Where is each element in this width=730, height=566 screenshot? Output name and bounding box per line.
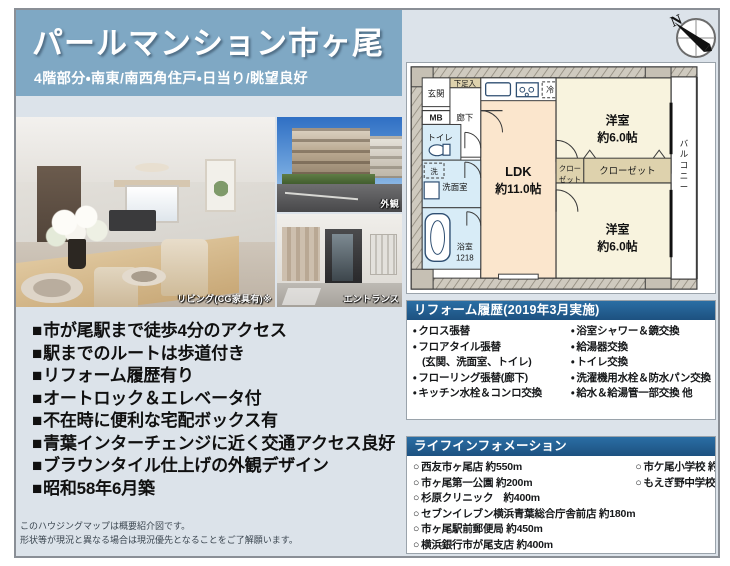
- housing-map-flyer: パールマンション市ヶ尾 4階部分・南東/南西角住戸・日当り/眺望良好 N リビン…: [0, 0, 730, 566]
- life-marker: ○: [413, 523, 419, 535]
- life-item: ○市ケ尾小学校 約550m: [635, 460, 716, 476]
- reform-item: ・キッチン水栓＆コンロ交換: [413, 386, 571, 402]
- floor-plan: バ ル コ ニ ー LDK 約11.0帖 冷 玄関 下足入: [406, 62, 716, 294]
- life-item: ○西友市ヶ尾店 約550m: [413, 460, 635, 476]
- reform-label: 洗濯機用水栓＆防水パン交換: [576, 372, 710, 384]
- reform-marker: ・: [571, 356, 574, 368]
- bathroom-size-label: 1218: [456, 253, 474, 262]
- reform-item: ・給水＆給湯管一部交換 他: [571, 386, 711, 402]
- svg-text:コ: コ: [680, 160, 688, 170]
- feature-item: ■リフォーム履歴有り: [16, 365, 402, 388]
- life-information-panel: ライフインフォメーション ○西友市ヶ尾店 約550m ○市ヶ尾第一公園 約200…: [406, 436, 716, 554]
- washbasin-label: 洗面室: [442, 182, 467, 192]
- feature-item: ■不在時に便利な宅配ボックス有: [16, 410, 402, 433]
- reform-label: (玄関、洗面室、トイレ): [422, 356, 532, 368]
- reform-item: ・クロス張替: [413, 324, 571, 340]
- feature-marker: ■: [32, 479, 42, 498]
- feature-marker: ■: [32, 456, 42, 475]
- bedroom-north-label: 洋室: [606, 113, 630, 127]
- life-label: 横浜銀行市が尾支店 約400m: [421, 539, 553, 551]
- reform-label: 給水＆給湯管一部交換 他: [576, 387, 692, 399]
- life-label: 杉原クリニック 約400m: [421, 492, 540, 504]
- exterior-photo: 外観: [277, 117, 402, 212]
- feature-marker: ■: [32, 434, 42, 453]
- feature-label: 不在時に便利な宅配ボックス有: [43, 411, 278, 430]
- life-item: ○市ヶ尾駅前郵便局 約450m: [413, 522, 635, 538]
- feature-item: ■ブラウンタイル仕上げの外観デザイン: [16, 455, 402, 478]
- feature-list: ■市が尾駅まで徒歩4分のアクセス ■駅までのルートは歩道付き ■リフォーム履歴有…: [16, 320, 402, 510]
- feature-label: 市が尾駅まで徒歩4分のアクセス: [43, 321, 287, 340]
- life-label: セブンイレブン横浜青葉総合庁舎前店 約180m: [421, 508, 635, 520]
- life-right-column: ○市ケ尾小学校 約550m ○もえぎ野中学校 約1,800m: [635, 460, 716, 553]
- living-room-photo: リビング(CG家具有)※: [16, 117, 275, 307]
- entrance-photo: エントランス: [277, 214, 402, 307]
- disclaimer-line-1: このハウジングマップは概要紹介図です。: [20, 519, 400, 533]
- reform-marker: ・: [571, 372, 574, 384]
- reform-item: ・トイレ交換: [571, 355, 711, 371]
- header-banner: パールマンション市ヶ尾 4階部分・南東/南西角住戸・日当り/眺望良好: [16, 10, 402, 96]
- feature-label: 昭和58年6月築: [43, 479, 155, 498]
- reform-item: ・洗濯機用水栓＆防水パン交換: [571, 371, 711, 387]
- feature-marker: ■: [32, 321, 42, 340]
- reform-item: ・給湯器交換: [571, 340, 711, 356]
- life-marker: ○: [635, 477, 641, 489]
- disclaimer-line-2: 形状等が現況と異なる場合は現況優先となることをご了解願います。: [20, 533, 400, 547]
- reform-label: フローリング張替(廊下): [418, 372, 528, 384]
- ldk-size-label: 約11.0帖: [494, 182, 541, 196]
- reform-marker: ・: [571, 325, 574, 337]
- reform-label: 浴室シャワー＆鏡交換: [576, 325, 679, 337]
- reform-item: ・フローリング張替(廊下): [413, 371, 571, 387]
- reform-history-panel: リフォーム履歴(2019年3月実施) ・クロス張替 ・フロアタイル張替 (玄関、…: [406, 300, 716, 420]
- life-item: ○セブンイレブン横浜青葉総合庁舎前店 約180m: [413, 507, 635, 523]
- svg-text:ー: ー: [680, 182, 688, 192]
- reform-label: キッチン水栓＆コンロ交換: [418, 387, 542, 399]
- entrance-caption: エントランス: [343, 292, 399, 305]
- reform-marker: ・: [413, 325, 416, 337]
- reform-marker: ・: [413, 372, 416, 384]
- feature-marker: ■: [32, 389, 42, 408]
- life-label: 市ケ尾小学校 約550m: [643, 461, 716, 473]
- life-marker: ○: [413, 461, 419, 473]
- reform-label: クロス張替: [418, 325, 470, 337]
- entrance-label: 玄関: [428, 89, 445, 99]
- bathroom-label: 浴室: [457, 241, 473, 251]
- reform-label: 給湯器交換: [576, 341, 628, 353]
- refrigerator-label: 冷: [546, 85, 554, 95]
- life-marker: ○: [413, 508, 419, 520]
- bedroom-south-label: 洋室: [606, 223, 630, 237]
- reform-left-column: ・クロス張替 ・フロアタイル張替 (玄関、洗面室、トイレ) ・フローリング張替(…: [413, 324, 571, 402]
- ldk-label: LDK: [505, 164, 532, 179]
- washer-label: 洗: [430, 166, 438, 176]
- life-marker: ○: [413, 539, 419, 551]
- meter-box-label: MB: [430, 113, 443, 123]
- page-subtitle: 4階部分・南東/南西角住戸・日当り/眺望良好: [34, 68, 308, 88]
- feature-item: ■オートロック＆エレベータ付: [16, 388, 402, 411]
- reform-marker: ・: [571, 341, 574, 353]
- reform-history-title: リフォーム履歴(2019年3月実施): [407, 301, 715, 320]
- disclaimer-note: このハウジングマップは概要紹介図です。 形状等が現況と異なる場合は現況優先となる…: [20, 519, 400, 547]
- feature-label: オートロック＆エレベータ付: [43, 389, 261, 408]
- reform-marker: ・: [413, 387, 416, 399]
- life-marker: ○: [635, 461, 641, 473]
- corridor-label: 廊下: [456, 113, 473, 123]
- page-title: パールマンション市ヶ尾: [32, 18, 384, 63]
- life-left-column: ○西友市ヶ尾店 約550m ○市ヶ尾第一公園 約200m ○杉原クリニック 約4…: [413, 460, 635, 553]
- feature-label: リフォーム履歴有り: [43, 366, 194, 385]
- feature-item: ■市が尾駅まで徒歩4分のアクセス: [16, 320, 402, 343]
- feature-marker: ■: [32, 411, 42, 430]
- bedroom-south-size-label: 約6.0帖: [596, 239, 637, 253]
- life-label: もえぎ野中学校 約1,800m: [643, 477, 716, 489]
- life-item: ○杉原クリニック 約400m: [413, 491, 635, 507]
- reform-right-column: ・浴室シャワー＆鏡交換 ・給湯器交換 ・トイレ交換 ・洗濯機用水栓＆防水パン交換…: [571, 324, 711, 402]
- feature-label: 駅までのルートは歩道付き: [43, 344, 245, 363]
- life-marker: ○: [413, 477, 419, 489]
- compass-north-icon: N: [660, 8, 724, 64]
- feature-marker: ■: [32, 344, 42, 363]
- life-label: 西友市ヶ尾店 約550m: [421, 461, 522, 473]
- reform-item: (玄関、洗面室、トイレ): [413, 355, 571, 371]
- life-label: 市ヶ尾駅前郵便局 約450m: [421, 523, 542, 535]
- shoe-box-label: 下足入: [454, 79, 477, 88]
- reform-item: ・フロアタイル張替: [413, 340, 571, 356]
- reform-label: トイレ交換: [576, 356, 628, 368]
- toilet-label: トイレ: [427, 132, 452, 142]
- closet-small-label-1: クロー: [559, 164, 581, 173]
- life-label: 市ヶ尾第一公園 約200m: [421, 477, 532, 489]
- exterior-caption: 外観: [380, 197, 399, 210]
- feature-label: 青葉インターチェンジに近く交通アクセス良好: [43, 434, 395, 453]
- closet-large-label: クローゼット: [599, 165, 655, 176]
- feature-item: ■青葉インターチェンジに近く交通アクセス良好: [16, 433, 402, 456]
- bedroom-north-size-label: 約6.0帖: [596, 130, 637, 144]
- life-marker: ○: [413, 492, 419, 504]
- balcony-label: バ: [680, 138, 689, 148]
- reform-label: フロアタイル張替: [418, 341, 500, 353]
- feature-item: ■駅までのルートは歩道付き: [16, 343, 402, 366]
- svg-text:ル: ル: [680, 149, 688, 159]
- feature-label: ブラウンタイル仕上げの外観デザイン: [43, 456, 329, 475]
- life-item: ○横浜銀行市が尾支店 約400m: [413, 538, 635, 554]
- floor-plan-drawing: バ ル コ ニ ー LDK 約11.0帖 冷 玄関 下足入: [407, 63, 715, 293]
- reform-marker: ・: [571, 387, 574, 399]
- svg-text:ニ: ニ: [680, 171, 688, 181]
- life-item: ○もえぎ野中学校 約1,800m: [635, 476, 716, 492]
- life-item: ○市ヶ尾第一公園 約200m: [413, 476, 635, 492]
- feature-marker: ■: [32, 366, 42, 385]
- living-room-caption: リビング(CG家具有)※: [177, 292, 272, 305]
- life-information-title: ライフインフォメーション: [407, 437, 715, 456]
- feature-item: ■昭和58年6月築: [16, 478, 402, 501]
- reform-item: ・浴室シャワー＆鏡交換: [571, 324, 711, 340]
- reform-marker: ・: [413, 341, 416, 353]
